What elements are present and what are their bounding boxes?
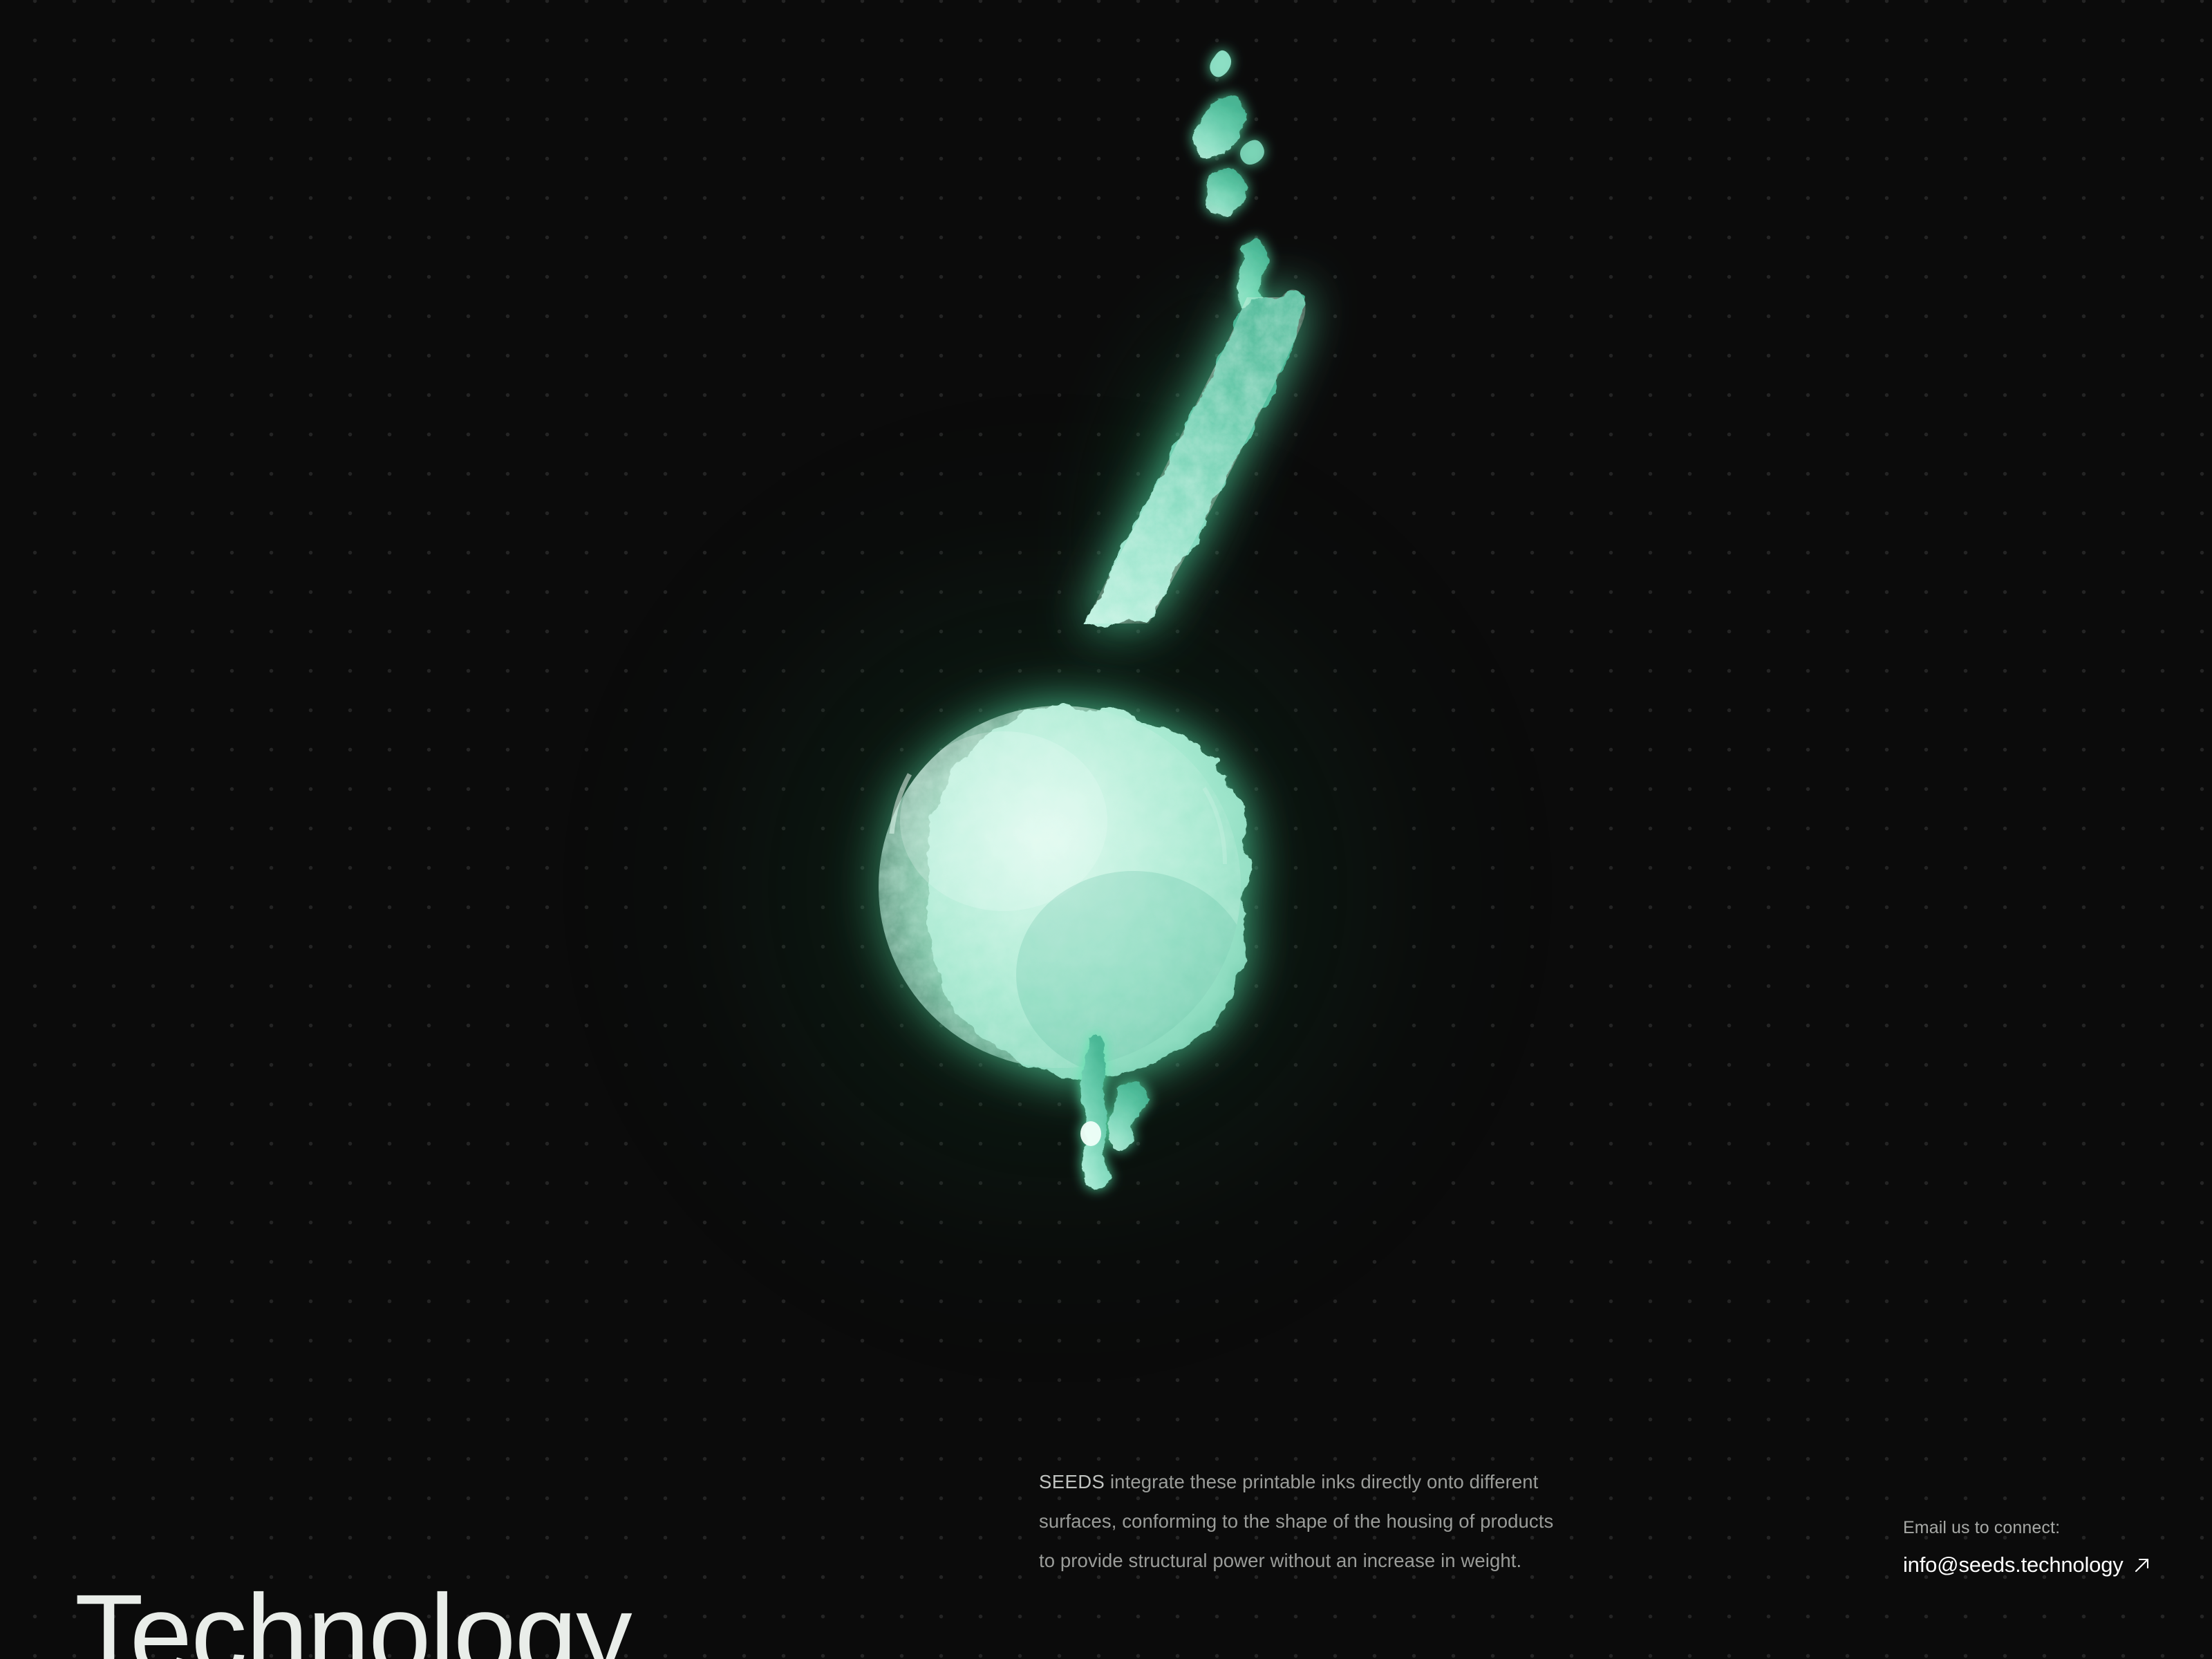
specimen-drip: [1080, 1037, 1147, 1191]
specimen-glow: [539, 370, 1576, 1407]
intro-paragraph-text: integrate these printable inks directly …: [1039, 1471, 1553, 1571]
email-link[interactable]: info@seeds.technology: [1903, 1552, 2151, 1578]
arrow-up-right-icon: [2133, 1556, 2151, 1574]
specimen-stem: [1085, 289, 1306, 624]
splash-fragment-mid: [1236, 238, 1268, 312]
headline-line-1: Technology: [75, 1570, 656, 1659]
splash-fragments-top: [1194, 50, 1264, 216]
contact-block: Email us to connect: info@seeds.technolo…: [1903, 1513, 2151, 1578]
page-title: Technology Powered by Nature®: [75, 1313, 656, 1659]
hero-page: Technology Powered by Nature® SEEDS inte…: [0, 0, 2212, 1659]
stem-glow: [910, 122, 1427, 818]
email-link-text: info@seeds.technology: [1903, 1552, 2124, 1578]
intro-paragraph: SEEDS integrate these printable inks dir…: [1039, 1462, 1564, 1580]
specimen-sphere: [876, 703, 1251, 1078]
brand-name-lead: SEEDS: [1039, 1471, 1105, 1492]
contact-label: Email us to connect:: [1903, 1513, 2151, 1542]
